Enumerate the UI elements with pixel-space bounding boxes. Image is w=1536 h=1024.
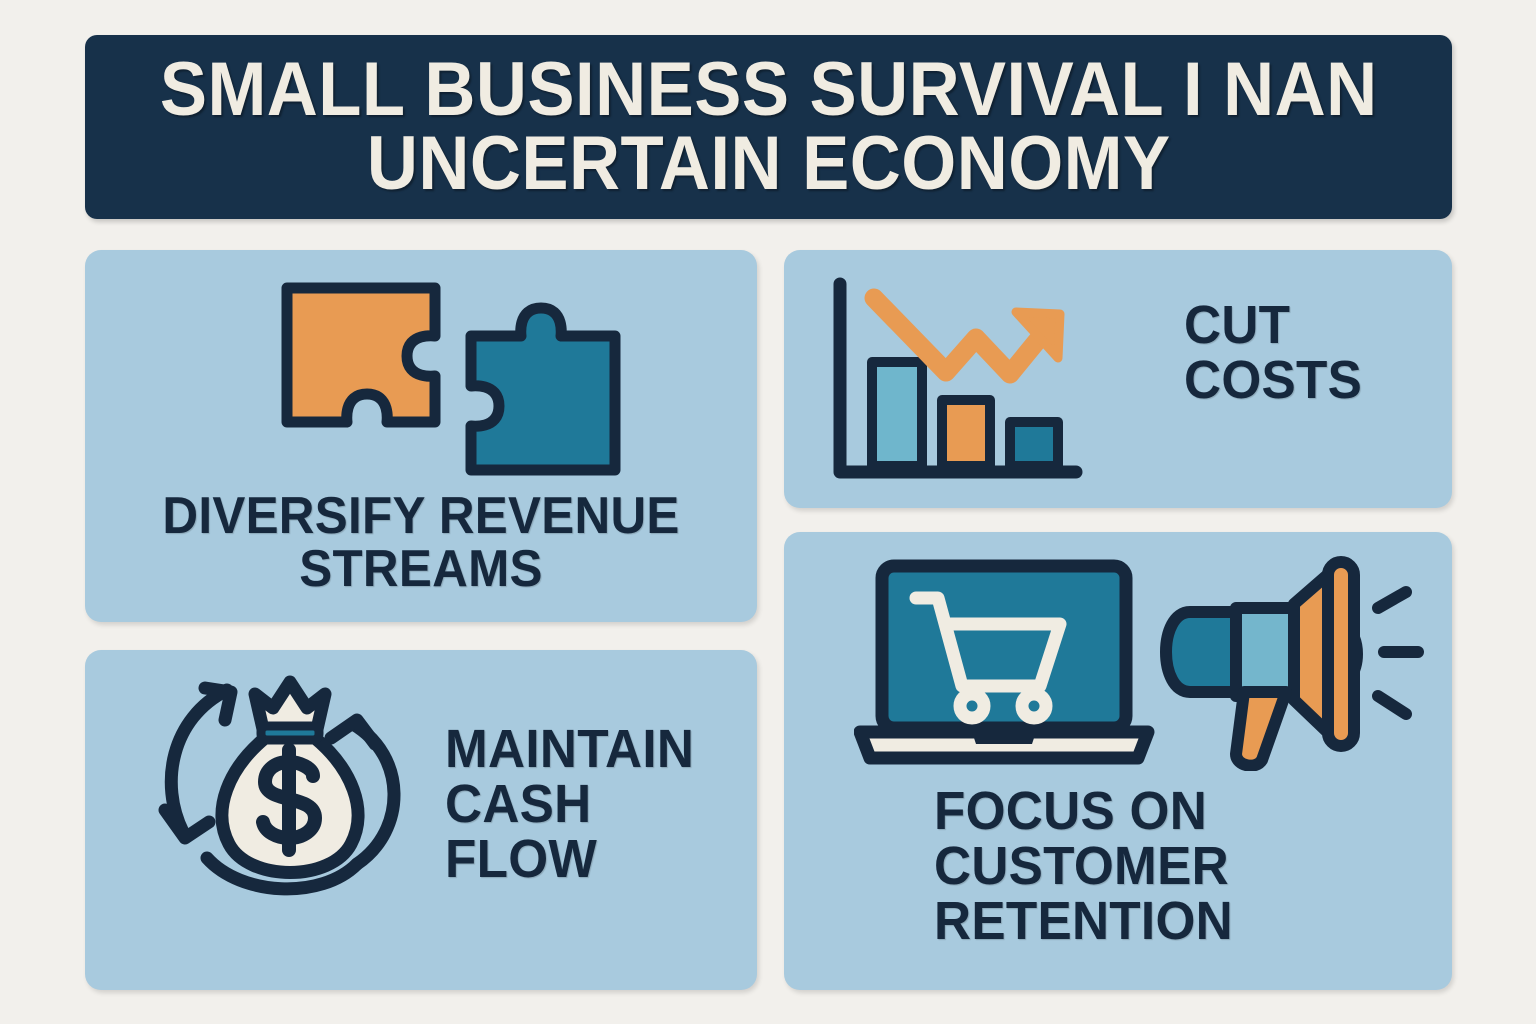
title-banner: SMALL BUSINESS SURVIVAL i NAN UNCERTAIN … xyxy=(85,35,1452,219)
card-label-retention: FOCUS ON CUSTOMER RETENTION xyxy=(934,784,1233,949)
infographic-canvas: SMALL BUSINESS SURVIVAL i NAN UNCERTAIN … xyxy=(0,0,1536,1024)
card-maintain-cash-flow[interactable]: MAINTAIN CASH FLOW xyxy=(85,650,757,990)
card-cut-costs[interactable]: CUT COSTS xyxy=(784,250,1452,508)
declining-bar-chart-icon xyxy=(824,276,1094,486)
megaphone-icon xyxy=(1144,556,1434,771)
card-label-diversify: DIVERSIFY REVENUE STREAMS xyxy=(102,490,740,596)
card-label-cut-costs: CUT COSTS xyxy=(1184,298,1362,408)
money-bag-cycle-icon xyxy=(145,664,435,904)
card-diversify-revenue-streams[interactable]: DIVERSIFY REVENUE STREAMS xyxy=(85,250,757,622)
laptop-shopping-cart-icon xyxy=(854,554,1174,774)
card-focus-customer-retention[interactable]: FOCUS ON CUSTOMER RETENTION xyxy=(784,532,1452,990)
card-label-cash-flow: MAINTAIN CASH FLOW xyxy=(445,722,694,887)
page-title: SMALL BUSINESS SURVIVAL i NAN UNCERTAIN … xyxy=(137,53,1399,202)
puzzle-pieces-icon xyxy=(275,274,655,484)
